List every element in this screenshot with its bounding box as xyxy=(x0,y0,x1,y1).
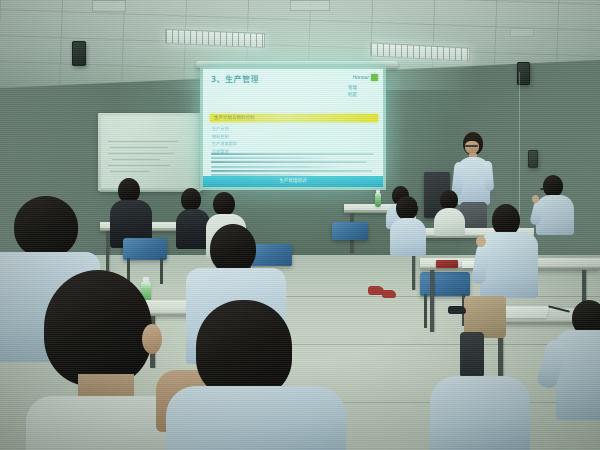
bottle-cap xyxy=(376,190,380,193)
chair-frame xyxy=(160,258,163,284)
wall-speaker xyxy=(528,150,538,168)
student-torso xyxy=(390,218,426,256)
student-hand xyxy=(532,195,539,203)
classroom-photo: 3、生产管理 Honour 管理 制度 生产计划与物料控制 生产计划 物料控制 … xyxy=(0,0,600,450)
student-glasses-icon xyxy=(540,188,549,190)
slide-footer-band: 生产管理培训 xyxy=(203,176,383,187)
slide-bullet: 生产进度跟踪 xyxy=(212,140,362,148)
desk-leg xyxy=(106,231,109,271)
slide-bullet-list: 生产计划 物料控制 生产进度跟踪 品质管理 xyxy=(212,125,362,155)
ceiling-access-hatch xyxy=(510,28,534,37)
student-head xyxy=(440,190,458,210)
slide-highlight-bar: 生产计划与物料控制 xyxy=(210,114,378,122)
projection-screen: 3、生产管理 Honour 管理 制度 生产计划与物料控制 生产计划 物料控制 … xyxy=(200,66,386,190)
student-head xyxy=(196,300,292,398)
desk-leg xyxy=(430,270,434,332)
slide-title: 3、生产管理 xyxy=(211,74,259,85)
student-head xyxy=(543,175,563,197)
paper-sheet xyxy=(501,306,550,318)
student-torso xyxy=(176,209,210,249)
student-torso xyxy=(434,208,465,236)
student-ear xyxy=(142,324,162,354)
water-bottle xyxy=(375,193,381,207)
student-head xyxy=(210,224,256,274)
student-head xyxy=(14,196,78,258)
student-torso xyxy=(166,386,346,450)
slide-bullet: 物料控制 xyxy=(212,133,362,141)
student-lower-leg xyxy=(460,332,484,378)
chair-frame xyxy=(424,294,427,328)
shoe xyxy=(448,306,466,314)
slide-logo-text: Honour xyxy=(353,75,369,81)
student-torso xyxy=(536,195,574,235)
student-hand xyxy=(476,236,486,247)
slide-footer-text: 生产管理培训 xyxy=(280,178,307,184)
student-torso xyxy=(480,232,538,298)
slide-corner-note-line-1: 管理 xyxy=(348,85,357,92)
slide-highlight-bar-text: 生产计划与物料控制 xyxy=(214,115,255,121)
wall-speaker xyxy=(72,41,86,66)
ceiling-access-hatch xyxy=(290,0,330,11)
student-head xyxy=(181,188,201,211)
slide-surface: 3、生产管理 Honour 管理 制度 生产计划与物料控制 生产计划 物料控制 … xyxy=(203,69,383,187)
wall-corner-seam xyxy=(519,72,520,237)
student-head xyxy=(213,192,235,216)
whiteboard xyxy=(98,113,202,191)
chair xyxy=(332,222,368,240)
ceiling-access-hatch xyxy=(92,0,126,12)
slide-corner-note-line-2: 制度 xyxy=(348,92,357,99)
student-head xyxy=(396,196,418,220)
red-notebook xyxy=(436,260,458,268)
instructor-glasses-icon xyxy=(465,145,478,147)
bottle-cap xyxy=(143,277,149,282)
shoe xyxy=(382,290,396,298)
slide-corner-note: 管理 制度 xyxy=(348,85,357,99)
whiteboard-surface xyxy=(101,116,199,188)
student-head xyxy=(44,270,152,386)
chair xyxy=(420,272,470,296)
slide-logo: Honour xyxy=(353,74,378,81)
student-torso xyxy=(430,376,530,450)
chair xyxy=(123,238,167,260)
slide-logo-mark-icon xyxy=(371,74,378,81)
slide-bullet: 生产计划 xyxy=(212,125,362,133)
